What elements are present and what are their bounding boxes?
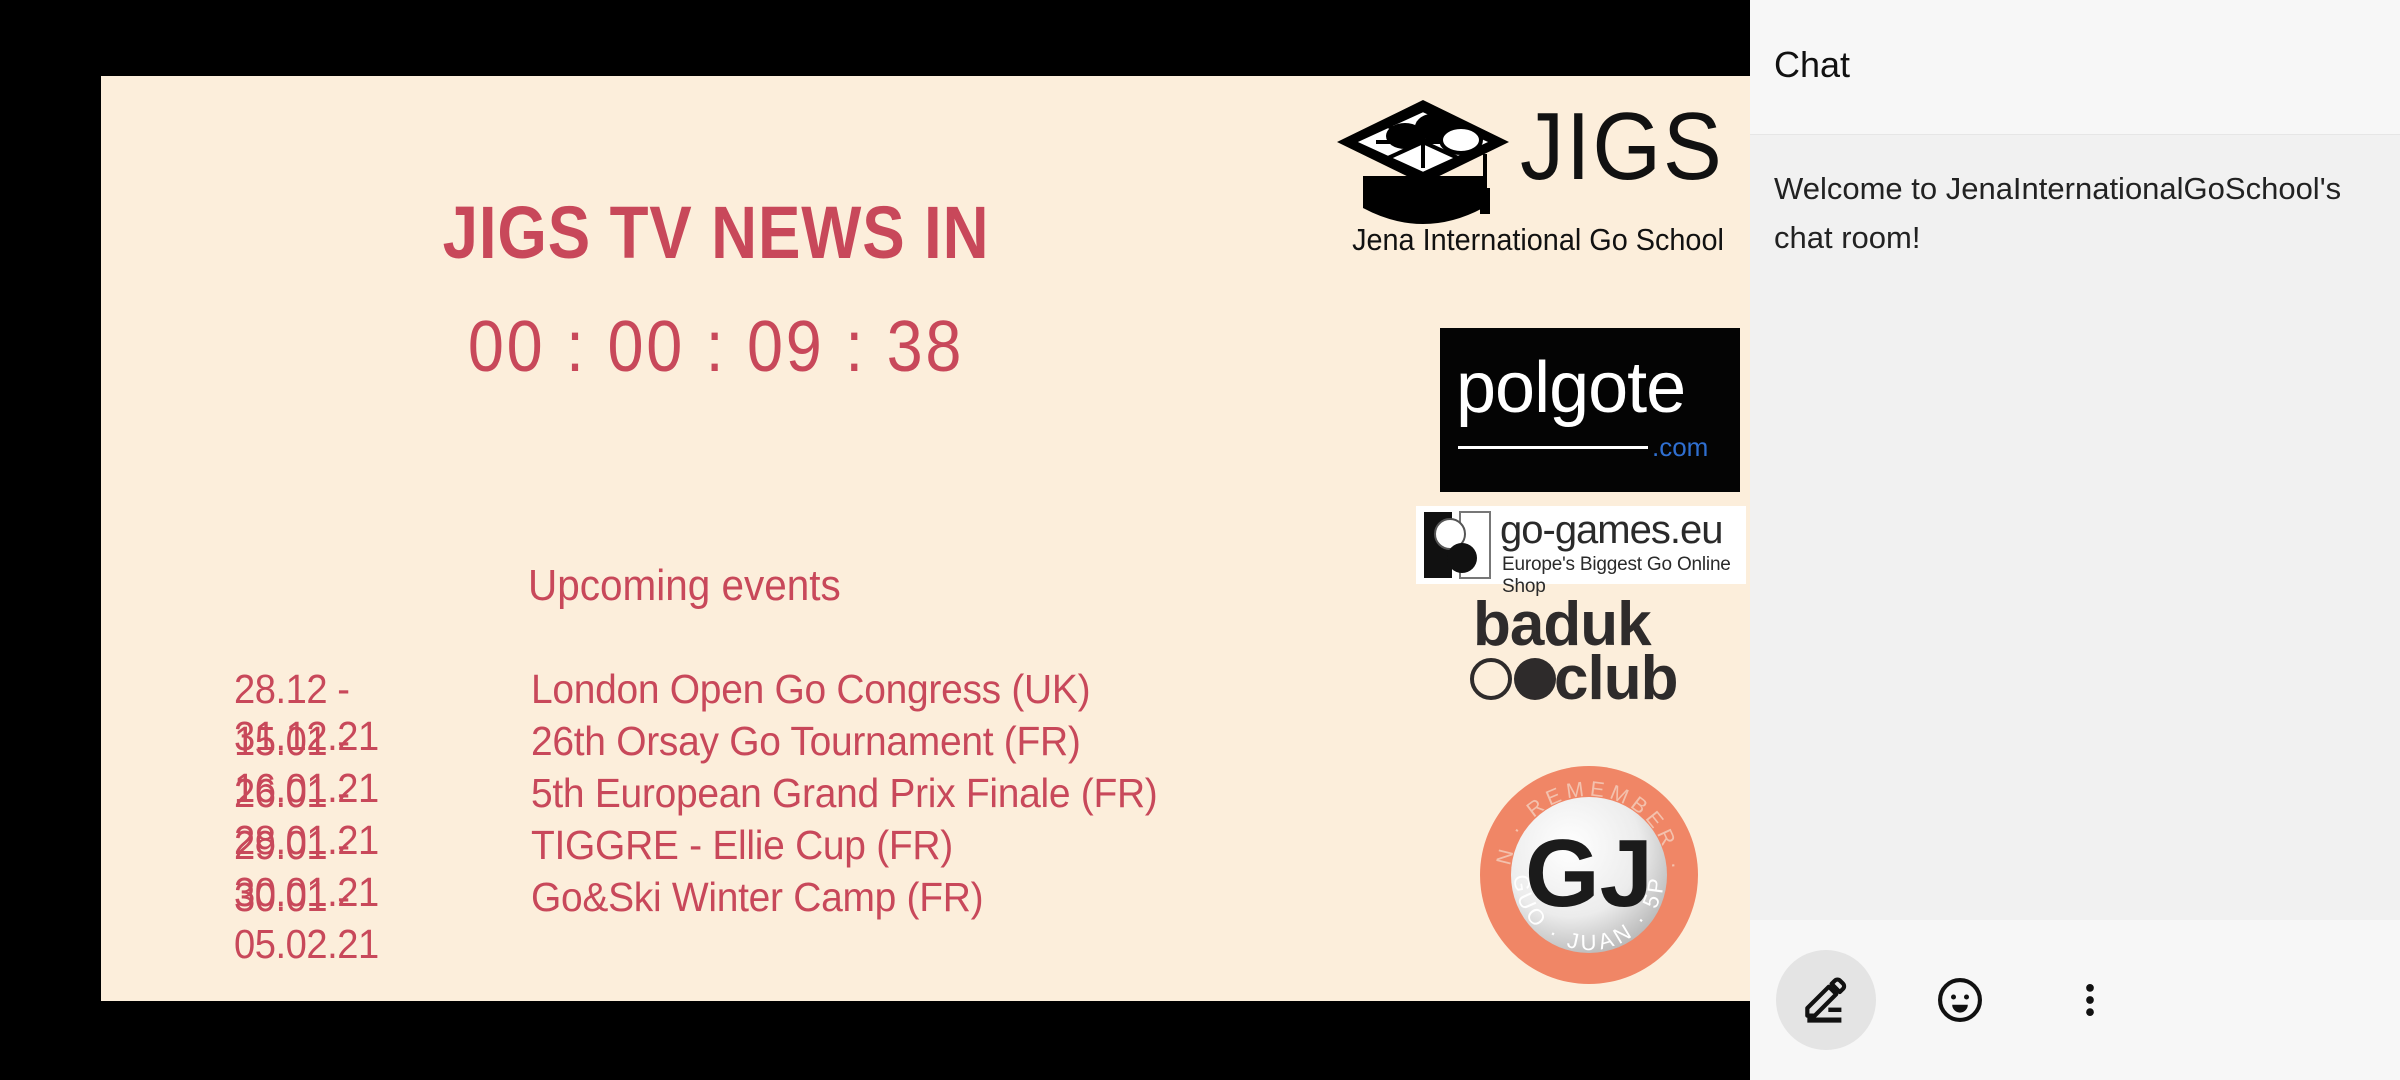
event-row: 28.12 - 31.12.21 London Open Go Congress… [141,666,1321,718]
club-wordmark: club [1554,648,1677,710]
chat-header: Chat [1750,0,2400,135]
polgote-logo: polgote .com [1440,328,1740,492]
event-name: 26th Orsay Go Tournament (FR) [531,718,1282,765]
emoji-smiley-icon [1934,974,1986,1026]
guo-juan-badge: LEARN · REMEMBER · WIN GUO · JUAN · 5P G… [1480,766,1698,984]
event-name: TIGGRE - Ellie Cup (FR) [531,822,1282,869]
polgote-wordmark: polgote [1456,348,1685,428]
compose-message-button[interactable] [1776,950,1876,1050]
go-stones-icon [1422,510,1494,580]
event-row: 29.01 - 30.01.21 TIGGRE - Ellie Cup (FR) [141,822,1321,874]
event-row: 15.01 - 16.01.21 26th Orsay Go Tournamen… [141,718,1321,770]
video-player-stage[interactable]: JIGS TV NEWS IN 00 : 00 : 09 : 38 Upcomi… [0,0,1750,1080]
compose-icon [1798,972,1854,1028]
emoji-picker-button[interactable] [1910,950,2010,1050]
event-name: 5th European Grand Prix Finale (FR) [531,770,1282,817]
event-name: London Open Go Congress (UK) [531,666,1282,713]
app-root: JIGS TV NEWS IN 00 : 00 : 09 : 38 Upcomi… [0,0,2400,1080]
countdown-timer: 00 : 00 : 09 : 38 [163,306,1270,388]
event-name: Go&Ski Winter Camp (FR) [531,874,1282,921]
chat-message: Welcome to JenaInternationalGoSchool's c… [1750,136,2400,262]
jigs-wordmark: JIGS [1520,92,1724,202]
black-stone-icon [1514,658,1556,700]
polgote-underline [1458,446,1648,449]
club-row: club [1470,648,1677,710]
white-stone-icon [1470,658,1512,700]
event-row: 26.01 - 28.01.21 5th European Grand Prix… [141,770,1321,822]
polgote-tld: .com [1652,432,1708,463]
chat-toolbar [1750,920,2400,1080]
badge-monogram: GJ [1525,820,1653,927]
chat-message-list[interactable]: Welcome to JenaInternationalGoSchool's c… [1750,136,2400,920]
sponsor-logo-column: JIGS Jena International Go School polgot… [1330,76,1750,1001]
go-games-wordmark: go-games.eu [1500,508,1722,552]
go-games-logo: go-games.eu Europe's Biggest Go Online S… [1416,506,1746,584]
upcoming-events-list: 28.12 - 31.12.21 London Open Go Congress… [141,666,1321,926]
broadcast-slide: JIGS TV NEWS IN 00 : 00 : 09 : 38 Upcomi… [101,76,1750,1001]
event-row: 30.01 - 05.02.21 Go&Ski Winter Camp (FR) [141,874,1321,926]
chat-more-options-button[interactable] [2040,950,2140,1050]
jigs-logo: JIGS Jena International Go School [1330,94,1742,284]
baduk-club-logo: baduk club [1470,600,1730,710]
slide-title: JIGS TV NEWS IN [187,190,1245,275]
chat-title: Chat [1774,44,1850,86]
more-vertical-icon [2068,978,2112,1022]
upcoming-events-heading: Upcoming events [528,561,841,611]
event-date: 30.01 - 05.02.21 [141,874,504,968]
graduation-cap-go-board-icon [1333,96,1513,224]
chat-panel: Chat Welcome to JenaInternationalGoSchoo… [1750,0,2400,1080]
jigs-subtitle: Jena International Go School [1346,222,1729,258]
